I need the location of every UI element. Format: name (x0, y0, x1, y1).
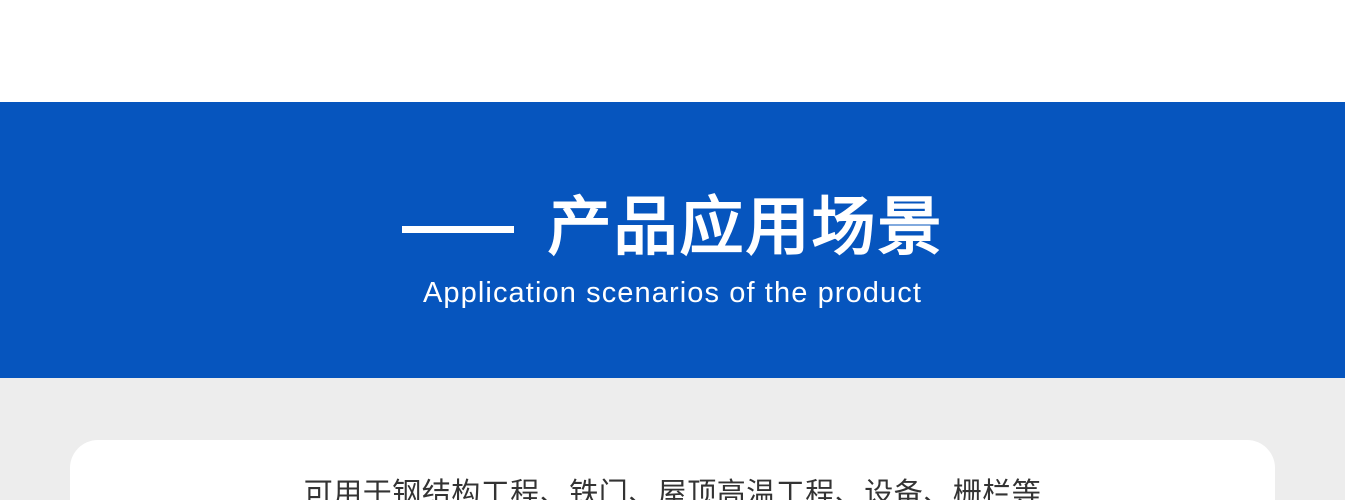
page-title: 产品应用场景 (548, 195, 944, 259)
hero-title-row: 产品应用场景 (0, 186, 1345, 268)
application-description: 可用于钢结构工程、铁门、屋顶高温工程、设备、栅栏等 (70, 476, 1275, 500)
product-application-section: 产品应用场景 Application scenarios of the prod… (0, 0, 1345, 500)
content-card: 可用于钢结构工程、铁门、屋顶高温工程、设备、栅栏等 (70, 440, 1275, 500)
title-dash-icon (402, 226, 514, 233)
page-subtitle: Application scenarios of the product (0, 276, 1345, 311)
hero-banner: 产品应用场景 Application scenarios of the prod… (0, 102, 1345, 378)
top-white-spacer (0, 0, 1345, 102)
